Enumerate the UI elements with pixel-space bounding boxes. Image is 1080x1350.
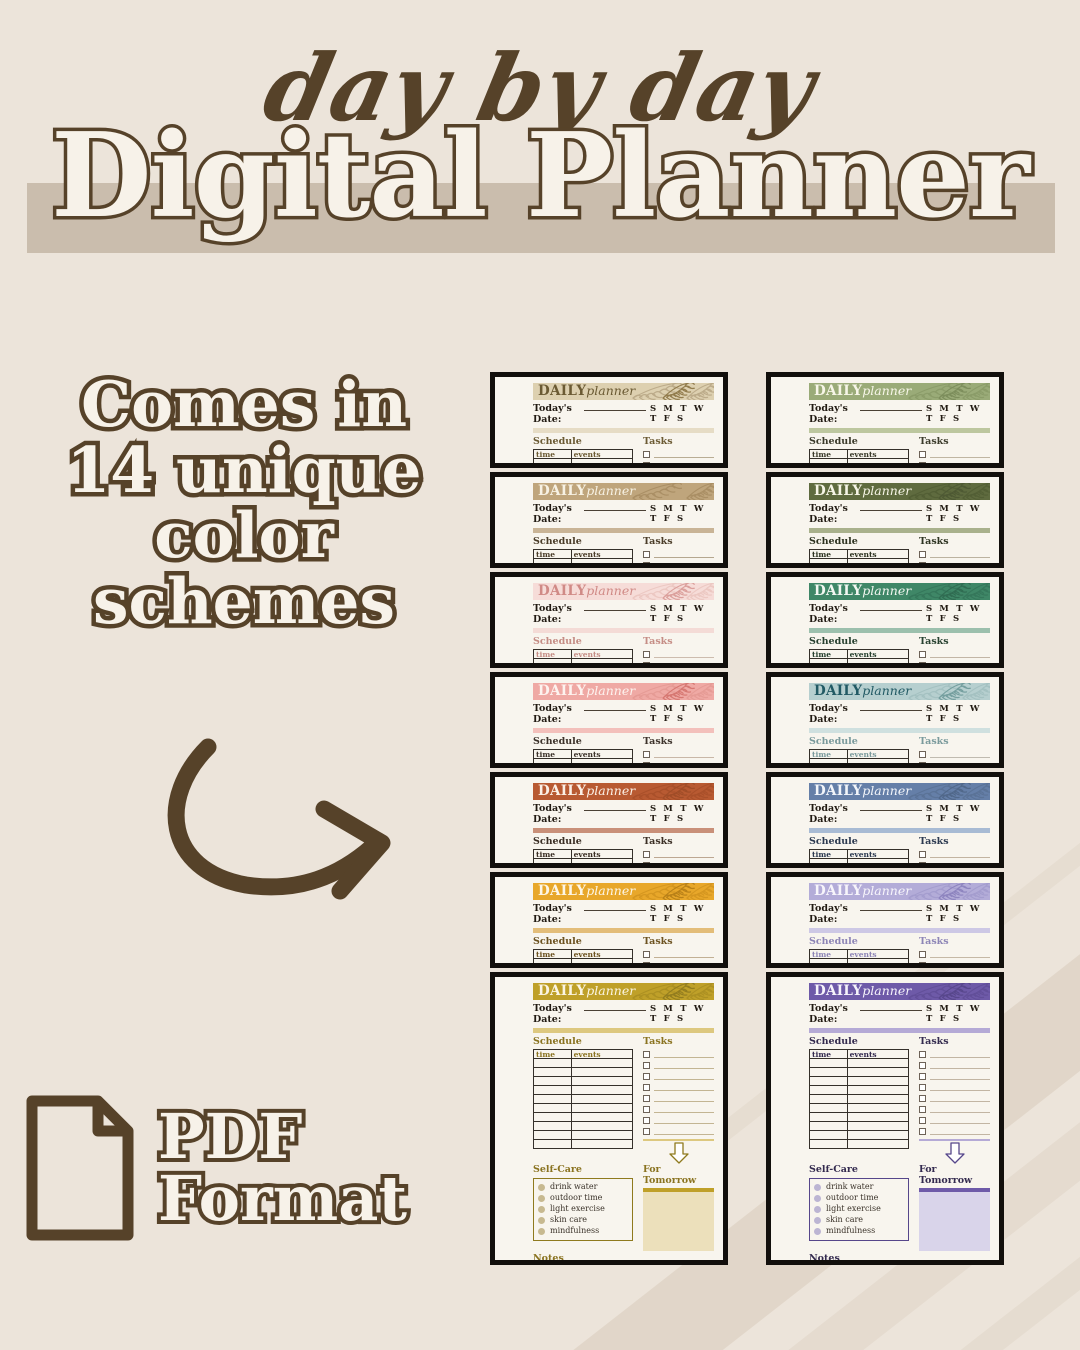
schedule-table[interactable]: timeevents [533, 649, 633, 663]
date-row[interactable]: Today's Date:S M T W T F S [533, 903, 714, 925]
schedule-section: Scheduletimeevents [809, 937, 909, 963]
task-row[interactable] [643, 949, 714, 960]
headline-line-4: schemes [34, 569, 454, 635]
planner-header-bar: DAILYplanner [809, 383, 990, 400]
task-checkbox[interactable] [643, 751, 650, 758]
planner-card-cream-khaki[interactable]: DAILYplannerToday's Date:S M T W T F SSc… [490, 372, 728, 468]
task-checkbox[interactable] [643, 851, 650, 858]
task-row[interactable] [919, 960, 990, 963]
table-row[interactable] [534, 1140, 633, 1149]
task-row[interactable] [643, 1082, 714, 1093]
task-checkbox[interactable] [919, 1073, 926, 1080]
table-row[interactable] [534, 559, 633, 563]
task-row[interactable] [643, 449, 714, 460]
table-row[interactable] [810, 1104, 909, 1113]
date-input-line[interactable] [860, 803, 922, 811]
task-checkbox[interactable] [643, 951, 650, 958]
task-checkbox[interactable] [919, 1128, 926, 1135]
tasks-section: Tasks [919, 837, 990, 863]
task-write-line[interactable] [930, 1085, 990, 1091]
planner-body: ScheduletimeeventsTasks [809, 1037, 990, 1164]
task-write-line[interactable] [930, 852, 990, 858]
task-row[interactable] [919, 860, 990, 863]
table-row[interactable] [810, 659, 909, 663]
schedule-table[interactable]: timeevents [809, 1049, 909, 1149]
planner-card-amber-gold[interactable]: DAILYplannerToday's Date:S M T W T F SSc… [490, 872, 728, 968]
task-row[interactable] [919, 1060, 990, 1071]
task-write-line[interactable] [654, 752, 714, 758]
self-care-item[interactable]: outdoor time [538, 1193, 628, 1204]
task-write-line[interactable] [930, 952, 990, 958]
task-row[interactable] [919, 549, 990, 560]
task-row[interactable] [643, 1126, 714, 1137]
planner-page: DAILYplannerToday's Date:S M T W T F SSc… [495, 777, 723, 863]
schedule-table[interactable]: timeevents [809, 949, 909, 963]
days-of-week[interactable]: S M T W T F S [926, 704, 990, 724]
days-of-week[interactable]: S M T W T F S [650, 1004, 714, 1024]
task-checkbox[interactable] [643, 1084, 650, 1091]
planner-body: ScheduletimeeventsTasks [533, 537, 714, 563]
header-rule [533, 1028, 714, 1033]
task-write-line[interactable] [654, 1074, 714, 1080]
schedule-section: Scheduletimeevents [533, 737, 633, 763]
planner-card-emerald-teal[interactable]: DAILYplannerToday's Date:S M T W T F SSc… [766, 572, 1004, 668]
self-care-item[interactable]: skin care [538, 1215, 628, 1226]
table-row[interactable] [534, 459, 633, 463]
date-row[interactable]: Today's Date:S M T W T F S [809, 903, 990, 925]
self-care-bullet-icon[interactable] [538, 1195, 545, 1202]
task-write-line[interactable] [930, 1074, 990, 1080]
task-list [919, 1049, 990, 1137]
days-of-week[interactable]: S M T W T F S [926, 804, 990, 824]
task-write-line[interactable] [654, 452, 714, 458]
schedule-table[interactable]: timeevents [533, 849, 633, 863]
task-write-line[interactable] [930, 1063, 990, 1069]
self-care-label: outdoor time [826, 1194, 878, 1202]
self-care-item[interactable]: light exercise [538, 1204, 628, 1215]
date-input-line[interactable] [584, 603, 646, 611]
planner-header-bar: DAILYplanner [809, 483, 990, 500]
task-write-line[interactable] [930, 1118, 990, 1124]
planner-title: DAILYplanner [809, 485, 911, 499]
planner-header-bar: DAILYplanner [533, 483, 714, 500]
planner-card-slate-blue[interactable]: DAILYplannerToday's Date:S M T W T F SSc… [766, 772, 1004, 868]
task-checkbox[interactable] [919, 1062, 926, 1069]
task-write-line[interactable] [654, 1052, 714, 1058]
task-checkbox[interactable] [919, 962, 926, 963]
date-row[interactable]: Today's Date:S M T W T F S [809, 503, 990, 525]
planner-header-bar: DAILYplanner [809, 683, 990, 700]
date-row[interactable]: Today's Date:S M T W T F S [809, 1003, 990, 1025]
task-row[interactable] [643, 1060, 714, 1071]
task-checkbox[interactable] [643, 1062, 650, 1069]
self-care-bullet-icon[interactable] [538, 1217, 545, 1224]
task-row[interactable] [919, 560, 990, 563]
task-checkbox[interactable] [643, 762, 650, 763]
task-checkbox[interactable] [919, 762, 926, 763]
task-write-line[interactable] [930, 752, 990, 758]
planner-card-pale-teal[interactable]: DAILYplannerToday's Date:S M T W T F SSc… [766, 672, 1004, 768]
task-checkbox[interactable] [643, 962, 650, 963]
table-row[interactable] [810, 1140, 909, 1149]
task-write-line[interactable] [654, 1107, 714, 1113]
task-write-line[interactable] [654, 1129, 714, 1135]
col-header-events: events [847, 850, 908, 859]
task-row[interactable] [919, 460, 990, 463]
col-header-time: time [810, 850, 848, 859]
schedule-table[interactable]: timeevents [533, 449, 633, 463]
days-of-week[interactable]: S M T W T F S [650, 404, 714, 424]
task-write-line[interactable] [654, 1096, 714, 1102]
self-care-bullet-icon[interactable] [538, 1184, 545, 1191]
days-of-week[interactable]: S M T W T F S [650, 904, 714, 924]
date-input-line[interactable] [860, 503, 922, 511]
self-care-item[interactable]: drink water [814, 1182, 904, 1193]
self-care-bullet-icon[interactable] [814, 1195, 821, 1202]
planner-page: DAILYplannerToday's Date:S M T W T F SSc… [771, 377, 999, 463]
schedule-label: Schedule [809, 637, 909, 647]
table-row[interactable] [534, 1059, 633, 1068]
tasks-section: Tasks [919, 737, 990, 763]
task-checkbox[interactable] [643, 1106, 650, 1113]
days-of-week[interactable]: S M T W T F S [650, 804, 714, 824]
task-checkbox[interactable] [643, 551, 650, 558]
self-care-bullet-icon[interactable] [538, 1228, 545, 1235]
self-care-item[interactable]: outdoor time [814, 1193, 904, 1204]
schedule-table[interactable]: timeevents [809, 449, 909, 463]
task-checkbox[interactable] [643, 1128, 650, 1135]
days-of-week[interactable]: S M T W T F S [926, 504, 990, 524]
schedule-label: Schedule [533, 637, 633, 647]
planner-card-sage-green[interactable]: DAILYplannerToday's Date:S M T W T F SSc… [766, 372, 1004, 468]
table-row[interactable] [810, 759, 909, 763]
table-header-row: timeevents [810, 650, 909, 659]
date-row[interactable]: Today's Date:S M T W T F S [533, 803, 714, 825]
task-row[interactable] [643, 660, 714, 663]
task-checkbox[interactable] [643, 562, 650, 563]
task-checkbox[interactable] [643, 1051, 650, 1058]
task-checkbox[interactable] [643, 451, 650, 458]
days-of-week[interactable]: S M T W T F S [926, 604, 990, 624]
task-row[interactable] [919, 1126, 990, 1137]
task-list [643, 449, 714, 463]
table-row[interactable] [534, 859, 633, 863]
schedule-table[interactable]: timeevents [533, 549, 633, 563]
date-row[interactable]: Today's Date:S M T W T F S [809, 403, 990, 425]
date-input-line[interactable] [860, 903, 922, 911]
table-row[interactable] [810, 1131, 909, 1140]
self-care-bullet-icon[interactable] [814, 1228, 821, 1235]
col-header-events: events [571, 750, 632, 759]
date-row[interactable]: Today's Date:S M T W T F S [533, 503, 714, 525]
task-row[interactable] [919, 1093, 990, 1104]
self-care-item[interactable]: skin care [814, 1215, 904, 1226]
table-row[interactable] [810, 1068, 909, 1077]
task-list [643, 849, 714, 863]
table-row[interactable] [534, 1131, 633, 1140]
task-row[interactable] [643, 749, 714, 760]
date-label: Today's Date: [809, 403, 856, 425]
date-input-line[interactable] [584, 403, 646, 411]
task-row[interactable] [919, 849, 990, 860]
task-row[interactable] [643, 560, 714, 563]
task-row[interactable] [919, 1104, 990, 1115]
table-row[interactable] [810, 1086, 909, 1095]
tasks-label: Tasks [643, 737, 714, 747]
task-checkbox[interactable] [643, 662, 650, 663]
task-row[interactable] [643, 649, 714, 660]
planner-header-bar: DAILYplanner [809, 583, 990, 600]
task-write-line[interactable] [930, 1096, 990, 1102]
task-checkbox[interactable] [919, 1051, 926, 1058]
task-write-line[interactable] [930, 1129, 990, 1135]
date-row[interactable]: Today's Date:S M T W T F S [809, 803, 990, 825]
task-row[interactable] [919, 660, 990, 663]
planner-header-bar: DAILYplanner [533, 983, 714, 1000]
table-row[interactable] [534, 1086, 633, 1095]
col-header-time: time [534, 750, 572, 759]
table-row[interactable] [810, 1122, 909, 1131]
days-of-week[interactable]: S M T W T F S [650, 504, 714, 524]
table-row[interactable] [534, 1104, 633, 1113]
planner-card-bronze-tan[interactable]: DAILYplannerToday's Date:S M T W T F SSc… [490, 472, 728, 568]
self-care-item[interactable]: mindfulness [814, 1226, 904, 1237]
task-row[interactable] [919, 760, 990, 763]
task-checkbox[interactable] [919, 951, 926, 958]
task-row[interactable] [643, 1071, 714, 1082]
tasks-label: Tasks [919, 837, 990, 847]
self-care-bullet-icon[interactable] [538, 1206, 545, 1213]
task-checkbox[interactable] [643, 651, 650, 658]
table-row[interactable] [810, 959, 909, 963]
table-row[interactable] [810, 1095, 909, 1104]
planner-title: DAILYplanner [809, 585, 911, 599]
planner-title: DAILYplanner [533, 685, 635, 699]
table-row[interactable] [534, 959, 633, 963]
tasks-label: Tasks [643, 837, 714, 847]
planner-title: DAILYplanner [809, 385, 911, 399]
task-checkbox[interactable] [643, 1073, 650, 1080]
days-of-week[interactable]: S M T W T F S [650, 704, 714, 724]
tasks-label: Tasks [919, 537, 990, 547]
task-row[interactable] [919, 1082, 990, 1093]
date-row[interactable]: Today's Date:S M T W T F S [533, 703, 714, 725]
col-header-time: time [810, 950, 848, 959]
date-input-line[interactable] [860, 403, 922, 411]
header-rule [809, 828, 990, 833]
task-row[interactable] [643, 760, 714, 763]
task-row[interactable] [643, 1049, 714, 1060]
task-row[interactable] [919, 649, 990, 660]
task-checkbox[interactable] [643, 1095, 650, 1102]
schedule-table[interactable]: timeevents [533, 749, 633, 763]
notes-label: Notes [533, 1253, 714, 1260]
task-checkbox[interactable] [919, 1095, 926, 1102]
schedule-table[interactable]: timeevents [809, 649, 909, 663]
schedule-section: Scheduletimeevents [809, 1037, 909, 1164]
task-row[interactable] [919, 949, 990, 960]
task-checkbox[interactable] [919, 1106, 926, 1113]
task-write-line[interactable] [654, 552, 714, 558]
schedule-section: Scheduletimeevents [809, 537, 909, 563]
days-of-week[interactable]: S M T W T F S [650, 604, 714, 624]
schedule-table[interactable]: timeevents [809, 549, 909, 563]
planner-preview-column-left: DAILYplannerToday's Date:S M T W T F SSc… [490, 372, 728, 1269]
table-row[interactable] [810, 1077, 909, 1086]
self-care-item[interactable]: mindfulness [538, 1226, 628, 1237]
task-checkbox[interactable] [919, 751, 926, 758]
task-write-line[interactable] [654, 852, 714, 858]
table-row[interactable] [534, 659, 633, 663]
schedule-table[interactable]: timeevents [533, 1049, 633, 1149]
task-checkbox[interactable] [643, 462, 650, 463]
planner-card-lavender[interactable]: DAILYplannerToday's Date:S M T W T F SSc… [766, 872, 1004, 968]
planner-page: DAILYplannerToday's Date:S M T W T F SSc… [495, 677, 723, 763]
task-write-line[interactable] [654, 1118, 714, 1124]
date-input-line[interactable] [584, 503, 646, 511]
task-checkbox[interactable] [919, 851, 926, 858]
for-tomorrow-box[interactable] [919, 1192, 990, 1251]
planner-card-royal-purple[interactable]: DAILYplannerToday's Date:S M T W T F SSc… [766, 972, 1004, 1265]
task-row[interactable] [919, 1049, 990, 1060]
task-checkbox[interactable] [919, 1117, 926, 1124]
task-checkbox[interactable] [919, 651, 926, 658]
task-write-line[interactable] [654, 652, 714, 658]
days-of-week[interactable]: S M T W T F S [926, 404, 990, 424]
table-row[interactable] [810, 859, 909, 863]
schedule-section: Scheduletimeevents [533, 437, 633, 463]
schedule-table[interactable]: timeevents [809, 849, 909, 863]
self-care-label: skin care [826, 1216, 863, 1224]
task-write-line[interactable] [654, 1063, 714, 1069]
task-write-line[interactable] [930, 552, 990, 558]
self-care-item[interactable]: drink water [538, 1182, 628, 1193]
date-input-line[interactable] [584, 903, 646, 911]
tasks-section: Tasks [643, 837, 714, 863]
self-care-bullet-icon[interactable] [814, 1206, 821, 1213]
table-row[interactable] [534, 1113, 633, 1122]
task-row[interactable] [643, 849, 714, 860]
task-row[interactable] [919, 1115, 990, 1126]
task-write-line[interactable] [654, 952, 714, 958]
self-care-label: drink water [826, 1183, 873, 1191]
table-row[interactable] [810, 559, 909, 563]
arrow-down-icon [669, 1142, 689, 1164]
schedule-table[interactable]: timeevents [533, 949, 633, 963]
task-checkbox[interactable] [919, 662, 926, 663]
task-checkbox[interactable] [919, 551, 926, 558]
date-label: Today's Date: [533, 603, 580, 625]
col-header-time: time [534, 650, 572, 659]
date-row[interactable]: Today's Date:S M T W T F S [533, 1003, 714, 1025]
col-header-events: events [571, 950, 632, 959]
schedule-table[interactable]: timeevents [809, 749, 909, 763]
planner-title: DAILYplanner [533, 485, 635, 499]
table-header-row: timeevents [534, 950, 633, 959]
date-row[interactable]: Today's Date:S M T W T F S [533, 603, 714, 625]
schedule-label: Schedule [533, 537, 633, 547]
task-row[interactable] [919, 449, 990, 460]
task-checkbox[interactable] [919, 562, 926, 563]
task-row[interactable] [643, 549, 714, 560]
task-row[interactable] [643, 460, 714, 463]
date-row[interactable]: Today's Date:S M T W T F S [533, 403, 714, 425]
date-input-line[interactable] [860, 703, 922, 711]
planner-card-terracotta[interactable]: DAILYplannerToday's Date:S M T W T F SSc… [490, 772, 728, 868]
table-row[interactable] [534, 1077, 633, 1086]
date-input-line[interactable] [860, 603, 922, 611]
planner-card-rose[interactable]: DAILYplannerToday's Date:S M T W T F SSc… [490, 672, 728, 768]
task-row[interactable] [643, 960, 714, 963]
date-row[interactable]: Today's Date:S M T W T F S [809, 703, 990, 725]
headline-line-3: color [34, 503, 454, 569]
planner-card-forest-olive[interactable]: DAILYplannerToday's Date:S M T W T F SSc… [766, 472, 1004, 568]
task-checkbox[interactable] [643, 862, 650, 863]
self-care-bullet-icon[interactable] [814, 1217, 821, 1224]
header-rule [533, 628, 714, 633]
task-row[interactable] [919, 749, 990, 760]
task-checkbox[interactable] [919, 862, 926, 863]
tasks-label: Tasks [643, 437, 714, 447]
task-row[interactable] [643, 1104, 714, 1115]
table-row[interactable] [810, 1113, 909, 1122]
task-row[interactable] [919, 1071, 990, 1082]
header-rule [533, 728, 714, 733]
days-of-week[interactable]: S M T W T F S [926, 1004, 990, 1024]
table-row[interactable] [534, 759, 633, 763]
planner-body: ScheduletimeeventsTasks [809, 637, 990, 663]
days-of-week[interactable]: S M T W T F S [926, 904, 990, 924]
task-write-line[interactable] [930, 1052, 990, 1058]
task-checkbox[interactable] [919, 451, 926, 458]
task-write-line[interactable] [654, 1085, 714, 1091]
self-care-bullet-icon[interactable] [814, 1184, 821, 1191]
table-row[interactable] [810, 459, 909, 463]
schedule-section: Scheduletimeevents [533, 537, 633, 563]
date-input-line[interactable] [584, 703, 646, 711]
self-care-label: skin care [550, 1216, 587, 1224]
schedule-section: Scheduletimeevents [809, 437, 909, 463]
for-tomorrow-box[interactable] [643, 1192, 714, 1251]
self-care-label: light exercise [550, 1205, 605, 1213]
task-checkbox[interactable] [919, 1084, 926, 1091]
self-care-label: mindfulness [550, 1227, 599, 1235]
task-row[interactable] [643, 860, 714, 863]
task-checkbox[interactable] [919, 462, 926, 463]
self-care-item[interactable]: light exercise [814, 1204, 904, 1215]
date-input-line[interactable] [860, 1003, 922, 1011]
table-row[interactable] [810, 1059, 909, 1068]
date-input-line[interactable] [584, 1003, 646, 1011]
task-row[interactable] [643, 1115, 714, 1126]
task-row[interactable] [643, 1093, 714, 1104]
table-row[interactable] [534, 1068, 633, 1077]
planner-card-blush-pink[interactable]: DAILYplannerToday's Date:S M T W T F SSc… [490, 572, 728, 668]
date-input-line[interactable] [584, 803, 646, 811]
task-checkbox[interactable] [643, 1117, 650, 1124]
task-write-line[interactable] [930, 1107, 990, 1113]
task-write-line[interactable] [930, 652, 990, 658]
tasks-section: Tasks [643, 737, 714, 763]
task-write-line[interactable] [930, 452, 990, 458]
table-row[interactable] [534, 1122, 633, 1131]
tasks-section: Tasks [643, 937, 714, 963]
self-care-section: Self-Caredrink wateroutdoor timelight ex… [809, 1165, 909, 1251]
date-row[interactable]: Today's Date:S M T W T F S [809, 603, 990, 625]
planner-card-olive-gold[interactable]: DAILYplannerToday's Date:S M T W T F SSc… [490, 972, 728, 1265]
table-row[interactable] [534, 1095, 633, 1104]
tasks-label: Tasks [643, 537, 714, 547]
